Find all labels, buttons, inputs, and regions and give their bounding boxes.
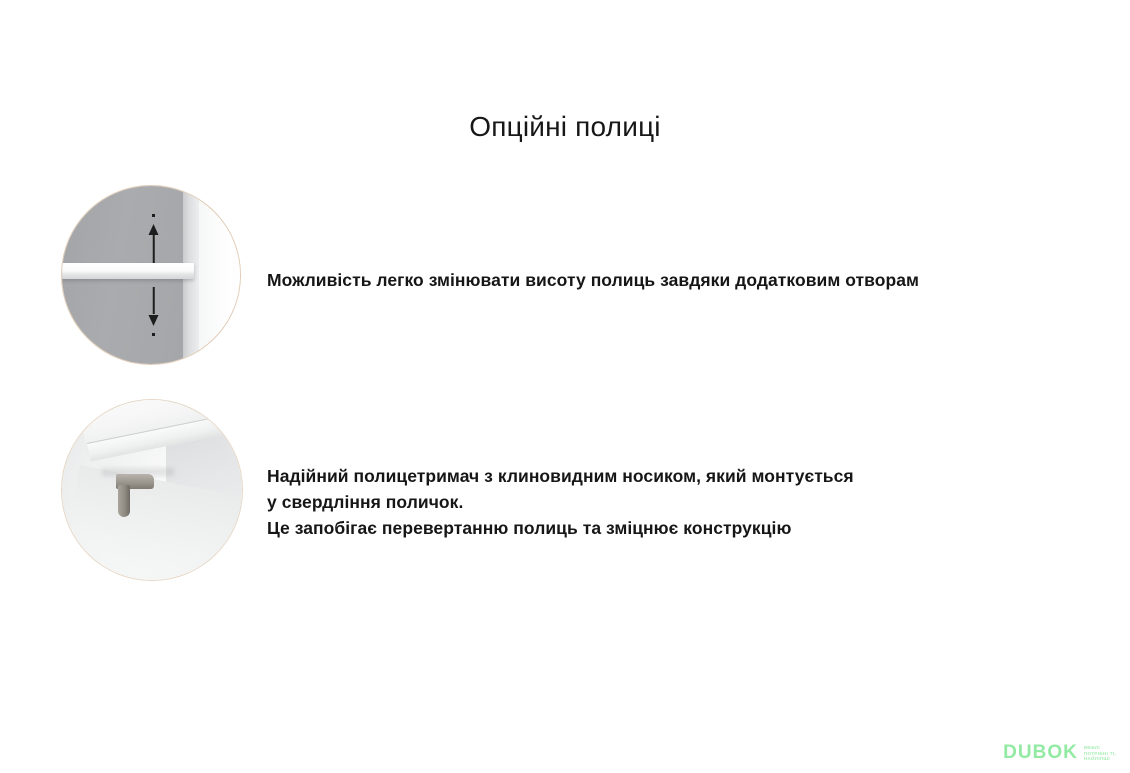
feature-row-1: Можливість легко змінювати висоту полиць… xyxy=(0,186,1130,366)
white-shelf xyxy=(62,263,194,279)
page-title: Опційні полиці xyxy=(0,110,1130,144)
feature-2-caption-line-1: Надійний полицетримач з клиновидним носи… xyxy=(267,463,854,489)
feature-1-caption-line-1: Можливість легко змінювати висоту полиць… xyxy=(267,267,919,293)
photo-1-content xyxy=(62,186,240,364)
arrow-down-head-icon xyxy=(149,315,159,326)
arrow-down-shaft xyxy=(153,287,155,314)
brand-tagline: Меблі Потрібні ті, Найліпші xyxy=(1084,744,1116,762)
slide-root: Опційні полиці Можливість легко змін xyxy=(0,0,1130,773)
feature-2-caption-line-2: у свердління поличок. xyxy=(267,489,854,515)
brand-watermark: DUBOK Меблі Потрібні ті, Найліпші xyxy=(1003,743,1116,763)
arrow-top-dot xyxy=(152,214,155,217)
photo-2-content xyxy=(62,400,242,580)
feature-row-2: Надійний полицетримач з клиновидним носи… xyxy=(0,400,1130,582)
adjustable-shelf-height-photo xyxy=(62,186,240,364)
arrow-up-shaft xyxy=(153,235,155,263)
shelf-holder-pin-photo xyxy=(62,400,242,580)
brand-name: DUBOK xyxy=(1003,743,1078,763)
brand-tagline-line-3: Найліпші xyxy=(1084,756,1116,762)
feature-1-caption: Можливість легко змінювати висоту полиць… xyxy=(267,267,919,293)
cabinet-side-panel xyxy=(199,186,240,364)
photo-2-vignette xyxy=(62,400,242,580)
arrow-bottom-dot xyxy=(152,333,155,336)
height-adjust-arrow-icon xyxy=(152,214,155,335)
arrow-up-head-icon xyxy=(149,224,159,235)
feature-2-caption-line-3: Це запобігає перевертанню полиць та зміц… xyxy=(267,515,854,541)
feature-2-caption: Надійний полицетримач з клиновидним носи… xyxy=(267,463,854,541)
